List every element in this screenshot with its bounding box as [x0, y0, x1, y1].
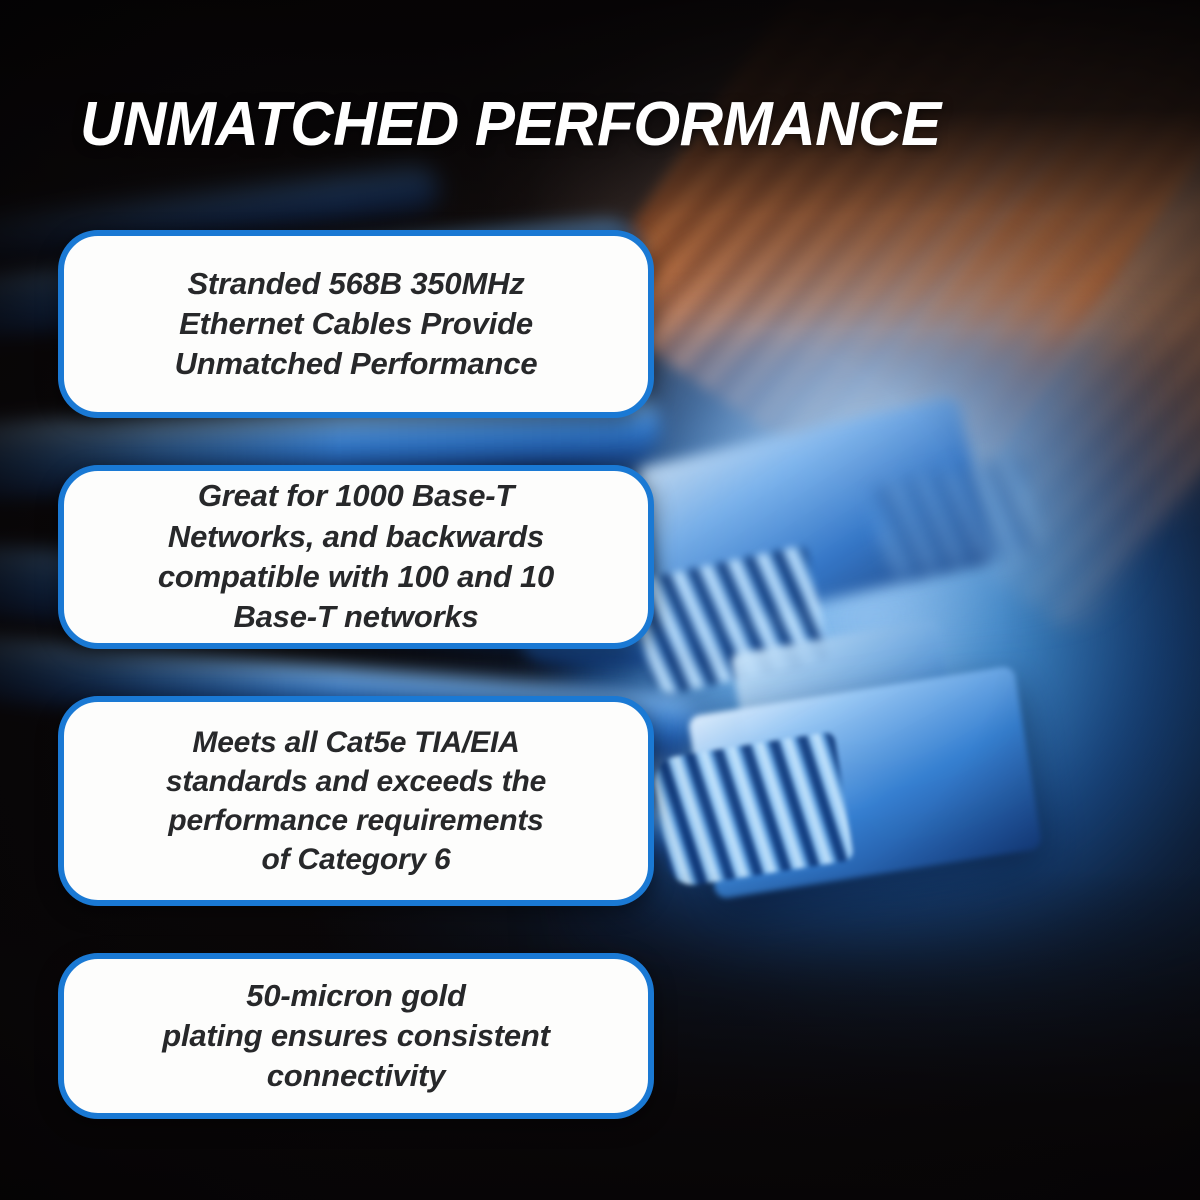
feature-card-cat5e-standards: Meets all Cat5e TIA/EIA standards and ex… [58, 696, 654, 906]
feature-card-list: Stranded 568B 350MHz Ethernet Cables Pro… [58, 230, 654, 1119]
feature-card-base-t-networks: Great for 1000 Base-T Networks, and back… [58, 465, 654, 649]
content-overlay: UNMATCHED PERFORMANCE Stranded 568B 350M… [0, 0, 1200, 1200]
feature-card-text: Stranded 568B 350MHz Ethernet Cables Pro… [175, 264, 538, 385]
feature-card-text: 50-micron gold plating ensures consisten… [162, 976, 550, 1097]
product-feature-infographic: UNMATCHED PERFORMANCE Stranded 568B 350M… [0, 0, 1200, 1200]
feature-card-text: Great for 1000 Base-T Networks, and back… [158, 476, 554, 637]
feature-card-text: Meets all Cat5e TIA/EIA standards and ex… [166, 723, 546, 879]
page-title: UNMATCHED PERFORMANCE [80, 94, 1108, 156]
feature-card-stranded-568b: Stranded 568B 350MHz Ethernet Cables Pro… [58, 230, 654, 418]
feature-card-gold-plating: 50-micron gold plating ensures consisten… [58, 953, 654, 1119]
